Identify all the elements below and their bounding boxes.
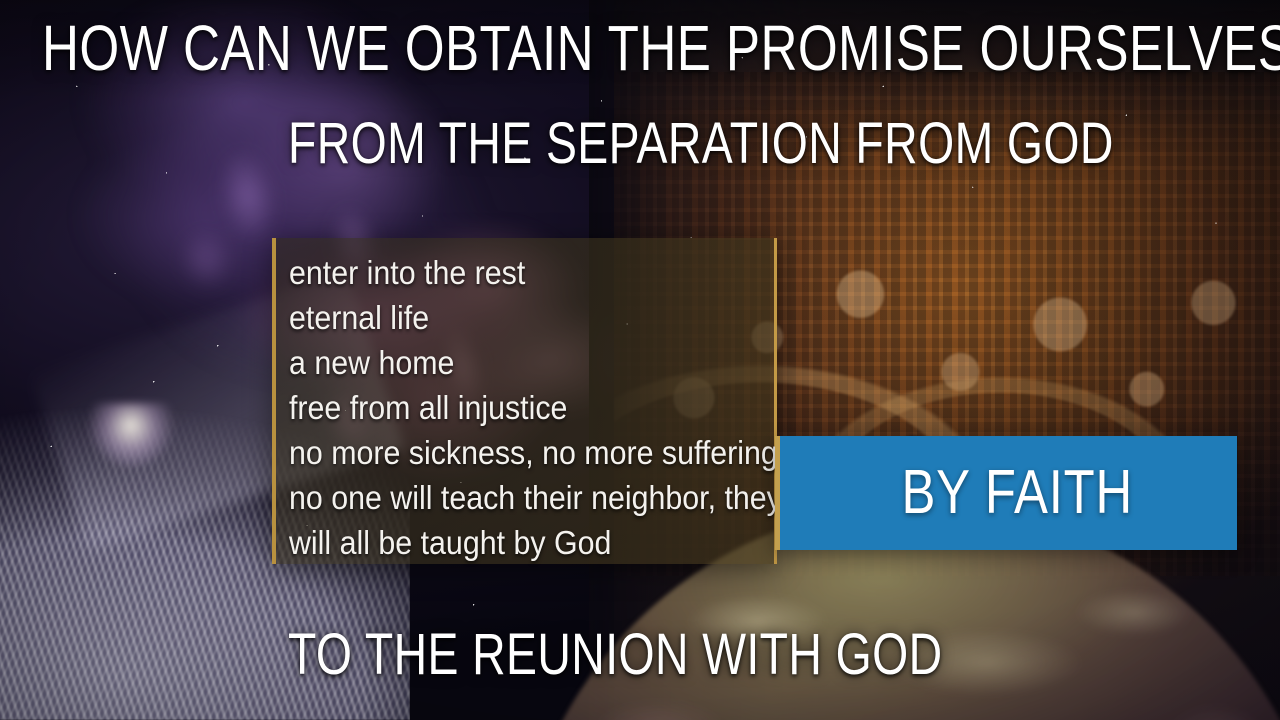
- list-item: eternal life: [289, 295, 732, 340]
- slide-title: HOW CAN WE OBTAIN THE PROMISE OURSELVES?: [42, 16, 1280, 80]
- slide-subheading-from: FROM THE SEPARATION FROM GOD: [288, 115, 1114, 173]
- presentation-slide: HOW CAN WE OBTAIN THE PROMISE OURSELVES?…: [0, 0, 1280, 720]
- list-item: will all be taught by God: [289, 520, 732, 565]
- list-item: enter into the rest: [289, 250, 732, 295]
- promise-list: enter into the rest eternal life a new h…: [289, 250, 770, 565]
- promise-list-panel: enter into the rest eternal life a new h…: [272, 238, 777, 564]
- list-item: a new home: [289, 340, 732, 385]
- list-item: no one will teach their neighbor, they: [289, 475, 732, 520]
- slide-subheading-to: TO THE REUNION WITH GOD: [288, 626, 943, 684]
- list-item: no more sickness, no more suffering: [289, 430, 732, 475]
- list-item: free from all injustice: [289, 385, 732, 430]
- by-faith-label: BY FAITH: [884, 462, 1134, 524]
- by-faith-callout-box: BY FAITH: [775, 436, 1237, 550]
